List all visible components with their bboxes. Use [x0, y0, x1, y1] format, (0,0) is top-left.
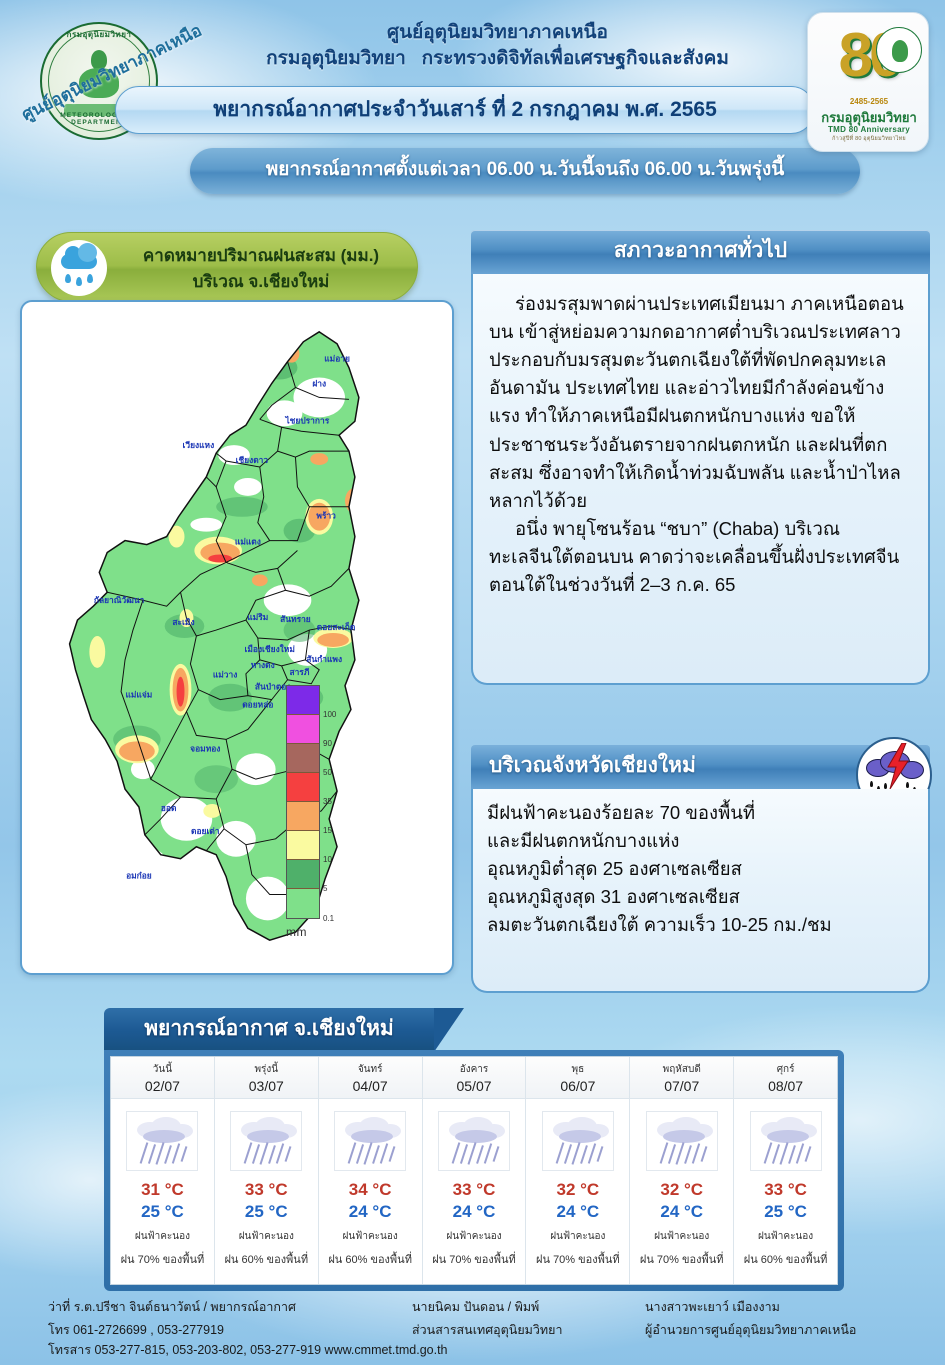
legend-segment: 90 — [287, 715, 319, 744]
district-label: ฮอด — [161, 803, 177, 813]
forecast-time-text: พยากรณ์อากาศตั้งแต่เวลา 06.00 น.วันนี้จน… — [190, 148, 860, 192]
page-footer: ว่าที่ ร.ต.ปรีชา จินต์ธนาวัตน์ / พยากรณ์… — [0, 1296, 945, 1365]
rain-storm-icon — [334, 1111, 406, 1171]
rainfall-map-canvas: แม่อายฝางไชยปราการเวียงแหงเชียงดาวพร้าวแ… — [22, 302, 452, 973]
forecast-high-temp: 33 °C — [423, 1180, 526, 1200]
forecast-day-date: 04/07 — [319, 1078, 422, 1094]
org-line-2: กรมอุตุนิยมวิทยา กระทรวงดิจิทัลเพื่อเศรษ… — [185, 46, 810, 72]
footer-fax-website: โทรสาร 053-277-815, 053-203-802, 053-277… — [48, 1340, 648, 1360]
footer-division: ส่วนสารสนเทศอุตุนิยมวิทยา — [412, 1319, 632, 1342]
chiangmai-body: มีฝนฟ้าคะนองร้อยละ 70 ของพื้นที่ และมีฝน… — [471, 789, 930, 993]
footer-director-name: นางสาวพะเยาว์ เมืองงาม — [645, 1296, 945, 1319]
legend-segment: 10 — [287, 831, 319, 860]
forecast-low-temp: 24 °C — [526, 1202, 629, 1222]
rainfall-map-frame[interactable]: แม่อายฝางไชยปราการเวียงแหงเชียงดาวพร้าวแ… — [20, 300, 454, 975]
general-weather-heading: สภาวะอากาศทั่วไป — [471, 230, 930, 272]
footer-column-1: ว่าที่ ร.ต.ปรีชา จินต์ธนาวัตน์ / พยากรณ์… — [48, 1296, 408, 1342]
forecast-day-header: พุธ06/07 — [526, 1057, 629, 1099]
forecast-day-header: วันนี้02/07 — [111, 1057, 214, 1099]
district-label: ดอยสะเก็ด — [317, 621, 356, 632]
district-label: แม่วาง — [213, 670, 238, 680]
forecast-low-temp: 25 °C — [215, 1202, 318, 1222]
forecast-probability: ฝน 70% ของพื้นที่ — [526, 1250, 629, 1268]
forecast-date-bar: พยากรณ์อากาศประจำวันเสาร์ ที่ 2 กรกฎาคม … — [115, 86, 815, 134]
chiangmai-line-5: ลมตะวันตกเฉียงใต้ ความเร็ว 10-25 กม./ชม — [487, 911, 914, 939]
forecast-day-header: อังคาร05/07 — [423, 1057, 526, 1099]
legend-segment: 50 — [287, 744, 319, 773]
legend-segment: 35 — [287, 773, 319, 802]
chiangmai-line-2: และมีฝนตกหนักบางแห่ง — [487, 827, 914, 855]
legend-tick-label: 35 — [323, 797, 332, 806]
forecast-probability: ฝน 60% ของพื้นที่ — [215, 1250, 318, 1268]
district-label: พร้าว — [316, 511, 336, 521]
chiangmai-line-1: มีฝนฟ้าคะนองร้อยละ 70 ของพื้นที่ — [487, 799, 914, 827]
map-title-line-2: บริเวณ จ.เชียงใหม่ — [115, 269, 407, 295]
legend-tick-label: 50 — [323, 768, 332, 777]
district-label: หางดง — [251, 660, 275, 670]
footer-typist: นายนิคม ปันดอน / พิมพ์ — [412, 1296, 632, 1319]
district-label: สารภี — [289, 667, 309, 677]
district-label: เชียงดาว — [236, 455, 269, 465]
forecast-high-temp: 32 °C — [526, 1180, 629, 1200]
legend-tick-label: 5 — [323, 884, 327, 893]
district-label: เมืองเชียงใหม่ — [245, 644, 295, 654]
rain-storm-icon — [126, 1111, 198, 1171]
forecast-condition: ฝนฟ้าคะนอง — [630, 1229, 733, 1244]
forecast-day-name: ศุกร์ — [734, 1062, 837, 1077]
rain-storm-icon — [438, 1111, 510, 1171]
tmd-80-anniversary-logo: 80 2485-2565 กรมอุตุนิยมวิทยา TMD 80 Ann… — [807, 12, 929, 152]
district-label: ฝาง — [312, 378, 326, 388]
rain-storm-icon — [230, 1111, 302, 1171]
district-label: ดอยหล่อ — [242, 700, 273, 710]
anniversary-english: TMD 80 Anniversary — [808, 125, 929, 134]
district-label: สันกำแพง — [306, 654, 342, 664]
forecast-low-temp: 24 °C — [423, 1202, 526, 1222]
forecast-day-column[interactable]: วันนี้02/0731 °C25 °Cฝนฟ้าคะนองฝน 70% ขอ… — [111, 1057, 215, 1284]
chiangmai-line-3: อุณหภูมิต่ำสุด 25 องศาเซลเซียส — [487, 855, 914, 883]
legend-tick-label: 90 — [323, 739, 332, 748]
forecast-day-column[interactable]: พุธ06/0732 °C24 °Cฝนฟ้าคะนองฝน 70% ของพื… — [526, 1057, 630, 1284]
district-label: สันทราย — [280, 614, 311, 624]
forecast-day-date: 03/07 — [215, 1078, 318, 1094]
forecast-day-date: 05/07 — [423, 1078, 526, 1094]
forecast-day-header: ศุกร์08/07 — [734, 1057, 837, 1099]
footer-director-title: ผู้อำนวยการศูนย์อุตุนิยมวิทยาภาคเหนือ — [645, 1319, 945, 1342]
rain-storm-icon — [542, 1111, 614, 1171]
forecast-day-column[interactable]: อังคาร05/0733 °C24 °Cฝนฟ้าคะนองฝน 70% ขอ… — [423, 1057, 527, 1284]
legend-segment: 0.1 — [287, 889, 319, 918]
district-label: แม่แตง — [235, 537, 261, 547]
forecast-low-temp: 25 °C — [111, 1202, 214, 1222]
seal-thai-text: กรมอุตุนิยมวิทยา — [40, 28, 158, 41]
forecast-condition: ฝนฟ้าคะนอง — [111, 1229, 214, 1244]
forecast-probability: ฝน 60% ของพื้นที่ — [319, 1250, 422, 1268]
general-paragraph-2: อนึ่ง พายุโซนร้อน “ชบา” (Chaba) บริเวณทะ… — [489, 515, 912, 599]
footer-column-2: นายนิคม ปันดอน / พิมพ์ ส่วนสารสนเทศอุตุน… — [412, 1296, 632, 1342]
footer-forecaster: ว่าที่ ร.ต.ปรีชา จินต์ธนาวัตน์ / พยากรณ์… — [48, 1296, 408, 1319]
page-header: กรมอุตุนิยมวิทยา METEOROLOGICAL DEPARTME… — [0, 0, 945, 205]
forecast-high-temp: 32 °C — [630, 1180, 733, 1200]
forecast-tab-label: พยากรณ์อากาศ จ.เชียงใหม่ — [104, 1008, 434, 1050]
district-label: สะเมิง — [172, 617, 194, 627]
map-title-text: คาดหมายปริมาณฝนสะสม (มม.) บริเวณ จ.เชียง… — [115, 243, 407, 294]
forecast-high-temp: 33 °C — [215, 1180, 318, 1200]
forecast-high-temp: 31 °C — [111, 1180, 214, 1200]
forecast-day-name: พรุ่งนี้ — [215, 1062, 318, 1077]
anniversary-subtitle: ก้าวสู่ปีที่ 80 อุตุนิยมวิทยาไทย — [808, 135, 929, 143]
forecast-day-name: อังคาร — [423, 1062, 526, 1077]
district-label: แม่แจ่ม — [125, 690, 152, 700]
seven-day-forecast: พยากรณ์อากาศ จ.เชียงใหม่ วันนี้02/0731 °… — [104, 1008, 844, 1291]
forecast-time-bar: พยากรณ์อากาศตั้งแต่เวลา 06.00 น.วันนี้จน… — [190, 148, 860, 194]
general-weather-body: ร่องมรสุมพาดผ่านประเทศเมียนมา ภาคเหนือตอ… — [471, 274, 930, 685]
forecast-day-date: 07/07 — [630, 1078, 733, 1094]
org-line-1: ศูนย์อุตุนิยมวิทยาภาคเหนือ — [185, 20, 810, 46]
forecast-probability: ฝน 70% ของพื้นที่ — [630, 1250, 733, 1268]
chiangmai-panel: บริเวณจังหวัดเชียงใหม่ มีฝนฟ้าคะนองร้อยล… — [471, 745, 930, 993]
legend-tick-label: 15 — [323, 826, 332, 835]
map-title-banner: คาดหมายปริมาณฝนสะสม (มม.) บริเวณ จ.เชียง… — [36, 232, 418, 302]
legend-tick-label: 100 — [323, 710, 336, 719]
forecast-day-date: 08/07 — [734, 1078, 837, 1094]
forecast-condition: ฝนฟ้าคะนอง — [215, 1229, 318, 1244]
forecast-day-name: พุธ — [526, 1062, 629, 1077]
forecast-panel: วันนี้02/0731 °C25 °Cฝนฟ้าคะนองฝน 70% ขอ… — [104, 1050, 844, 1291]
forecast-date-text: พยากรณ์อากาศประจำวันเสาร์ ที่ 2 กรกฎาคม … — [116, 87, 814, 133]
forecast-day-column[interactable]: พรุ่งนี้03/0733 °C25 °Cฝนฟ้าคะนองฝน 60% … — [215, 1057, 319, 1284]
forecast-condition: ฝนฟ้าคะนอง — [423, 1229, 526, 1244]
forecast-high-temp: 34 °C — [319, 1180, 422, 1200]
legend-segment: 100 — [287, 686, 319, 715]
district-label: ไชยปราการ — [284, 415, 329, 425]
legend-segment: 15 — [287, 802, 319, 831]
forecast-day-header: พฤหัสบดี07/07 — [630, 1057, 733, 1099]
forecast-grid: วันนี้02/0731 °C25 °Cฝนฟ้าคะนองฝน 70% ขอ… — [110, 1056, 838, 1285]
chiangmai-line-4: อุณหภูมิสูงสุด 31 องศาเซลเซียส — [487, 883, 914, 911]
forecast-high-temp: 33 °C — [734, 1180, 837, 1200]
forecast-day-date: 06/07 — [526, 1078, 629, 1094]
footer-column-3: นางสาวพะเยาว์ เมืองงาม ผู้อำนวยการศูนย์อ… — [645, 1296, 945, 1342]
forecast-day-date: 02/07 — [111, 1078, 214, 1094]
forecast-day-column[interactable]: พฤหัสบดี07/0732 °C24 °Cฝนฟ้าคะนองฝน 70% … — [630, 1057, 734, 1284]
forecast-probability: ฝน 60% ของพื้นที่ — [734, 1250, 837, 1268]
anniversary-years: 2485-2565 — [808, 97, 929, 106]
forecast-probability: ฝน 70% ของพื้นที่ — [111, 1250, 214, 1268]
rain-cloud-icon — [51, 240, 107, 296]
forecast-condition: ฝนฟ้าคะนอง — [319, 1229, 422, 1244]
legend-color-bar: 100905035151050.1 — [286, 685, 320, 919]
general-paragraph-1: ร่องมรสุมพาดผ่านประเทศเมียนมา ภาคเหนือตอ… — [489, 290, 912, 515]
forecast-condition: ฝนฟ้าคะนอง — [734, 1229, 837, 1244]
rain-storm-icon — [750, 1111, 822, 1171]
anniversary-seal-icon — [876, 27, 922, 73]
footer-phone: โทร 061-2726699 , 053-277919 — [48, 1319, 408, 1342]
legend-tick-label: 0.1 — [323, 914, 334, 923]
general-weather-header: สภาวะอากาศทั่วไป — [471, 230, 930, 274]
district-label: เวียงแหง — [183, 440, 215, 450]
forecast-day-header: พรุ่งนี้03/07 — [215, 1057, 318, 1099]
forecast-probability: ฝน 70% ของพื้นที่ — [423, 1250, 526, 1268]
forecast-low-temp: 24 °C — [630, 1202, 733, 1222]
forecast-condition: ฝนฟ้าคะนอง — [526, 1229, 629, 1244]
forecast-day-name: วันนี้ — [111, 1062, 214, 1077]
forecast-day-header: จันทร์04/07 — [319, 1057, 422, 1099]
forecast-day-name: จันทร์ — [319, 1062, 422, 1077]
rain-storm-icon — [646, 1111, 718, 1171]
district-label: แม่ริม — [247, 612, 268, 622]
district-label: จอมทอง — [190, 743, 220, 753]
general-weather-panel: สภาวะอากาศทั่วไป ร่องมรสุมพาดผ่านประเทศเ… — [471, 230, 930, 685]
forecast-tab: พยากรณ์อากาศ จ.เชียงใหม่ — [104, 1008, 434, 1052]
legend-tick-label: 10 — [323, 855, 332, 864]
district-label: กัลยาณิวัฒนา — [94, 595, 145, 605]
map-title-line-1: คาดหมายปริมาณฝนสะสม (มม.) — [115, 243, 407, 269]
organization-title: ศูนย์อุตุนิยมวิทยาภาคเหนือ กรมอุตุนิยมวิ… — [185, 20, 810, 72]
district-label: อมก๋อย — [126, 871, 152, 881]
forecast-low-temp: 24 °C — [319, 1202, 422, 1222]
district-label: ดอยเต่า — [191, 826, 220, 836]
district-label: แม่อาย — [324, 354, 350, 364]
forecast-low-temp: 25 °C — [734, 1202, 837, 1222]
legend-unit-label: mm — [286, 925, 332, 939]
forecast-day-column[interactable]: จันทร์04/0734 °C24 °Cฝนฟ้าคะนองฝน 60% ขอ… — [319, 1057, 423, 1284]
forecast-day-name: พฤหัสบดี — [630, 1062, 733, 1077]
forecast-day-column[interactable]: ศุกร์08/0733 °C25 °Cฝนฟ้าคะนองฝน 60% ของ… — [734, 1057, 837, 1284]
rainfall-legend: 100905035151050.1 mm — [286, 685, 332, 939]
legend-segment: 5 — [287, 860, 319, 889]
